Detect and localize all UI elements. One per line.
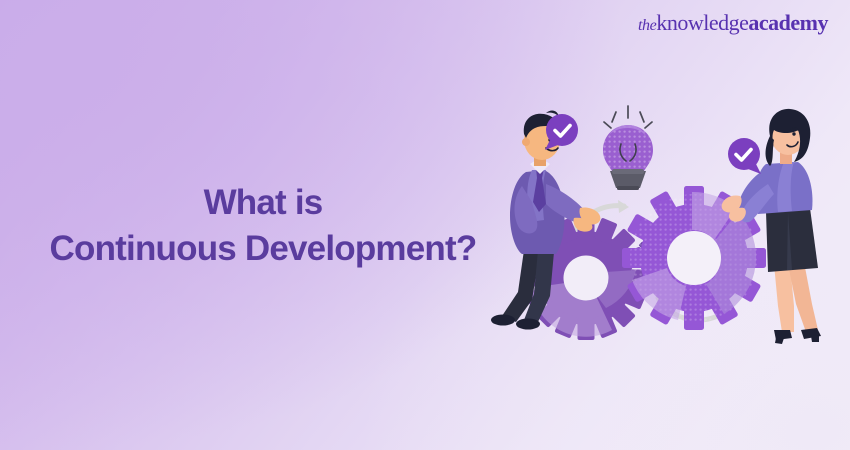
logo-academy-text: academy [748, 10, 828, 35]
hero-illustration [488, 100, 840, 350]
check-badge-right-icon [728, 138, 761, 174]
banner-root: theknowledgeacademy What is Continuous D… [0, 0, 850, 450]
headline-line-2: Continuous Development? [18, 226, 508, 272]
page-title: What is Continuous Development? [18, 180, 508, 272]
logo-the-text: the [638, 17, 656, 34]
headline-line-1: What is [18, 180, 508, 226]
brand-logo[interactable]: theknowledgeacademy [638, 12, 828, 34]
logo-knowledge-text: knowledge [656, 10, 748, 35]
lightbulb-icon [603, 106, 653, 190]
